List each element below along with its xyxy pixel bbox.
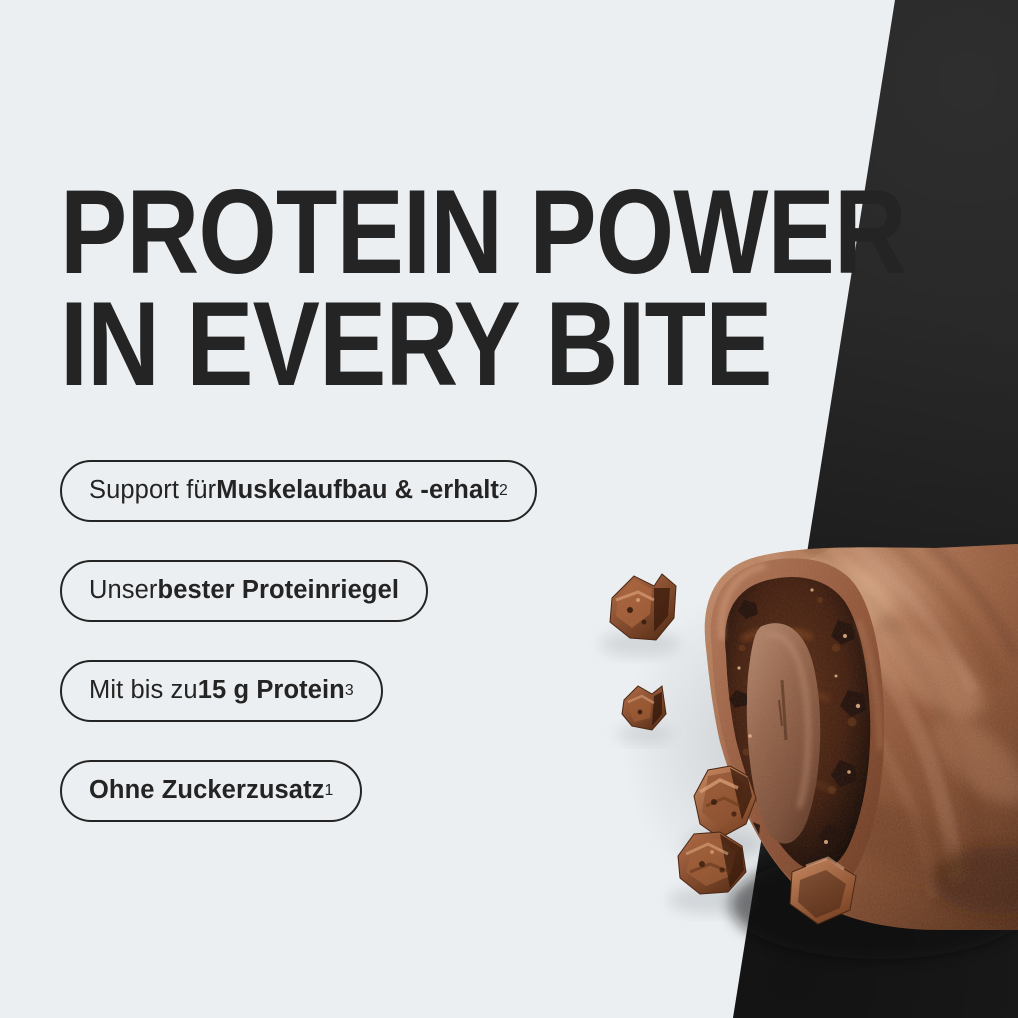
crumb-group [600, 574, 764, 914]
badge-light-text: Unser [89, 578, 158, 604]
headline-line-2: IN EVERY BITE [60, 288, 906, 400]
page-title: PROTEIN POWER IN EVERY BITE [60, 176, 906, 400]
badge-bold-text: 15 g Protein [198, 678, 345, 704]
badge-bold-text: Muskelaufbau & -erhalt [216, 478, 499, 504]
badge-bold-text: Ohne Zuckerzusatz [89, 778, 325, 804]
promo-banner: PROTEIN POWER IN EVERY BITE Support für … [0, 0, 1018, 1018]
badge-bold-text: bester Proteinriegel [158, 578, 400, 604]
badge-bester-proteinriegel[interactable]: Unser bester Proteinriegel [60, 560, 428, 622]
badge-15g-protein[interactable]: Mit bis zu 15 g Protein3 [60, 660, 383, 722]
badge-light-text: Mit bis zu [89, 678, 198, 704]
badge-ohne-zuckerzusatz[interactable]: Ohne Zuckerzusatz1 [60, 760, 362, 822]
benefit-badge-list: Support für Muskelaufbau & -erhalt2 Unse… [60, 460, 537, 822]
headline-line-1: PROTEIN POWER [60, 176, 906, 288]
badge-light-text: Support für [89, 478, 216, 504]
badge-muskelaufbau[interactable]: Support für Muskelaufbau & -erhalt2 [60, 460, 537, 522]
